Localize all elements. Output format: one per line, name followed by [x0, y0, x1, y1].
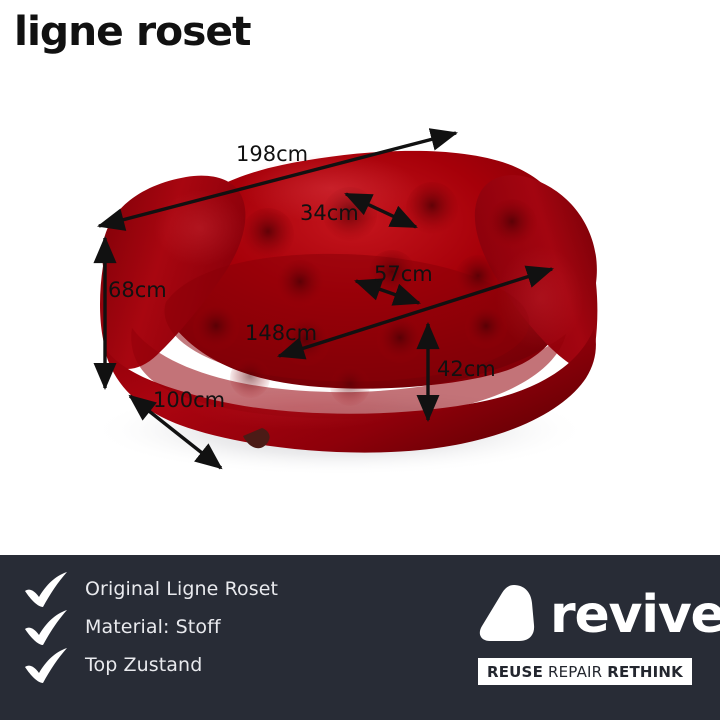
- tagline-repair: REPAIR: [548, 663, 602, 681]
- feature-list: Original Ligne Roset Material: Stoff Top…: [22, 573, 382, 687]
- dimension-label-68cm: 68cm: [108, 280, 167, 301]
- tagline-reuse: REUSE: [487, 663, 543, 681]
- dimension-label-100cm: 100cm: [153, 390, 225, 411]
- list-item-label: Top Zustand: [85, 654, 202, 676]
- check-icon: [22, 647, 78, 687]
- ligne-roset-logo: ligne roset: [14, 12, 250, 52]
- dimension-label-57cm: 57cm: [374, 264, 433, 285]
- list-item-label: Material: Stoff: [85, 616, 221, 638]
- list-item-label: Original Ligne Roset: [85, 578, 278, 600]
- check-icon: [22, 609, 78, 649]
- revive-blob-icon: [478, 582, 540, 644]
- list-item: Material: Stoff: [22, 611, 382, 648]
- dimension-label-34cm: 34cm: [300, 203, 359, 224]
- dimension-label-148cm: 148cm: [245, 323, 317, 344]
- tagline-rethink: RETHINK: [607, 663, 683, 681]
- revive-logo: revive REUSE REPAIR RETHINK: [478, 577, 720, 685]
- info-banner: Original Ligne Roset Material: Stoff Top…: [0, 555, 720, 720]
- dimension-label-198cm: 198cm: [236, 144, 308, 165]
- dimension-label-42cm: 42cm: [437, 359, 496, 380]
- list-item: Original Ligne Roset: [22, 573, 382, 610]
- product-photo: 198cm 34cm 68cm 57cm 148cm 42cm 100cm: [0, 78, 720, 555]
- product-image-card: ligne roset: [0, 0, 720, 720]
- list-item: Top Zustand: [22, 649, 382, 686]
- revive-wordmark: revive: [550, 589, 720, 641]
- check-icon: [22, 571, 78, 611]
- revive-tagline: REUSE REPAIR RETHINK: [478, 658, 692, 685]
